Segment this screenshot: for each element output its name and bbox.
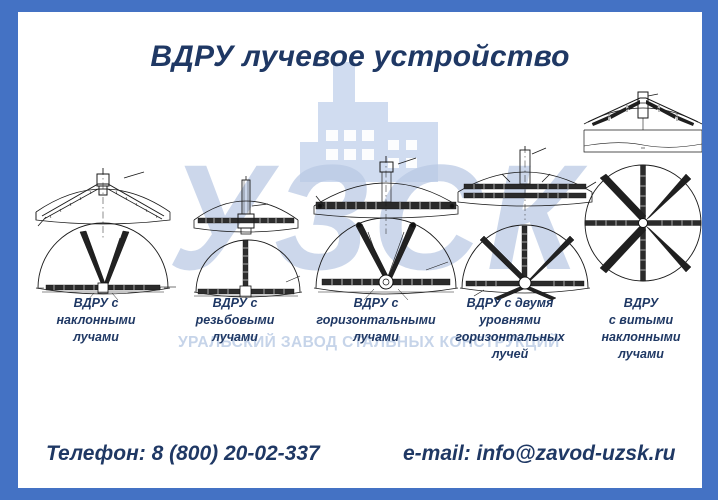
caption-vdru-threaded-rays: ВДРУ с резьбовыми лучами: [170, 295, 300, 346]
footer: Телефон: 8 (800) 20-02-337 e-mail: info@…: [18, 442, 702, 488]
caption-line: уровнями: [438, 312, 582, 329]
caption-line: ВДРУ с двумя: [438, 295, 582, 312]
caption-line: наклонными: [580, 329, 702, 346]
caption-line: ВДРУ с: [26, 295, 166, 312]
caption-line: лучами: [26, 329, 166, 346]
caption-line: лучами: [580, 346, 702, 363]
caption-line: горизонтальных: [438, 329, 582, 346]
caption-line: горизонтальными: [303, 312, 449, 329]
figure-vdru-threaded-rays: [186, 174, 306, 300]
caption-line: наклонными: [26, 312, 166, 329]
caption-vdru-twisted-inclined-rays: ВДРУ с витыми наклонными лучами: [580, 295, 702, 363]
caption-vdru-horizontal-rays: ВДРУ с горизонтальными лучами: [303, 295, 449, 346]
caption-line: лучей: [438, 346, 582, 363]
caption-line: резьбовыми: [170, 312, 300, 329]
caption-vdru-inclined-rays: ВДРУ с наклонными лучами: [26, 295, 166, 346]
caption-line: ВДРУ: [580, 295, 702, 312]
footer-email: e-mail: info@zavod-uzsk.ru: [403, 442, 676, 466]
slide-frame: УЗСК УРАЛЬСКИЙ ЗАВОД СТАЛЬНЫХ КОНСТРУКЦИ…: [0, 0, 718, 500]
figure-vdru-horizontal-rays: [306, 150, 466, 300]
caption-row: ВДРУ с наклонными лучами ВДРУ с резьбовы…: [18, 295, 702, 395]
caption-line: с витыми: [580, 312, 702, 329]
caption-line: лучами: [170, 329, 300, 346]
figure-vdru-inclined-rays: [28, 160, 178, 300]
page-title: ВДРУ лучевое устройство: [18, 40, 702, 74]
slide-canvas: УЗСК УРАЛЬСКИЙ ЗАВОД СТАЛЬНЫХ КОНСТРУКЦИ…: [18, 12, 702, 488]
caption-line: лучами: [303, 329, 449, 346]
caption-vdru-two-levels-horizontal-rays: ВДРУ с двумя уровнями горизонтальных луч…: [438, 295, 582, 363]
footer-phone: Телефон: 8 (800) 20-02-337: [46, 442, 320, 466]
caption-line: ВДРУ с: [170, 295, 300, 312]
figure-vdru-twisted-inclined-rays: [578, 90, 702, 290]
caption-line: ВДРУ с: [303, 295, 449, 312]
